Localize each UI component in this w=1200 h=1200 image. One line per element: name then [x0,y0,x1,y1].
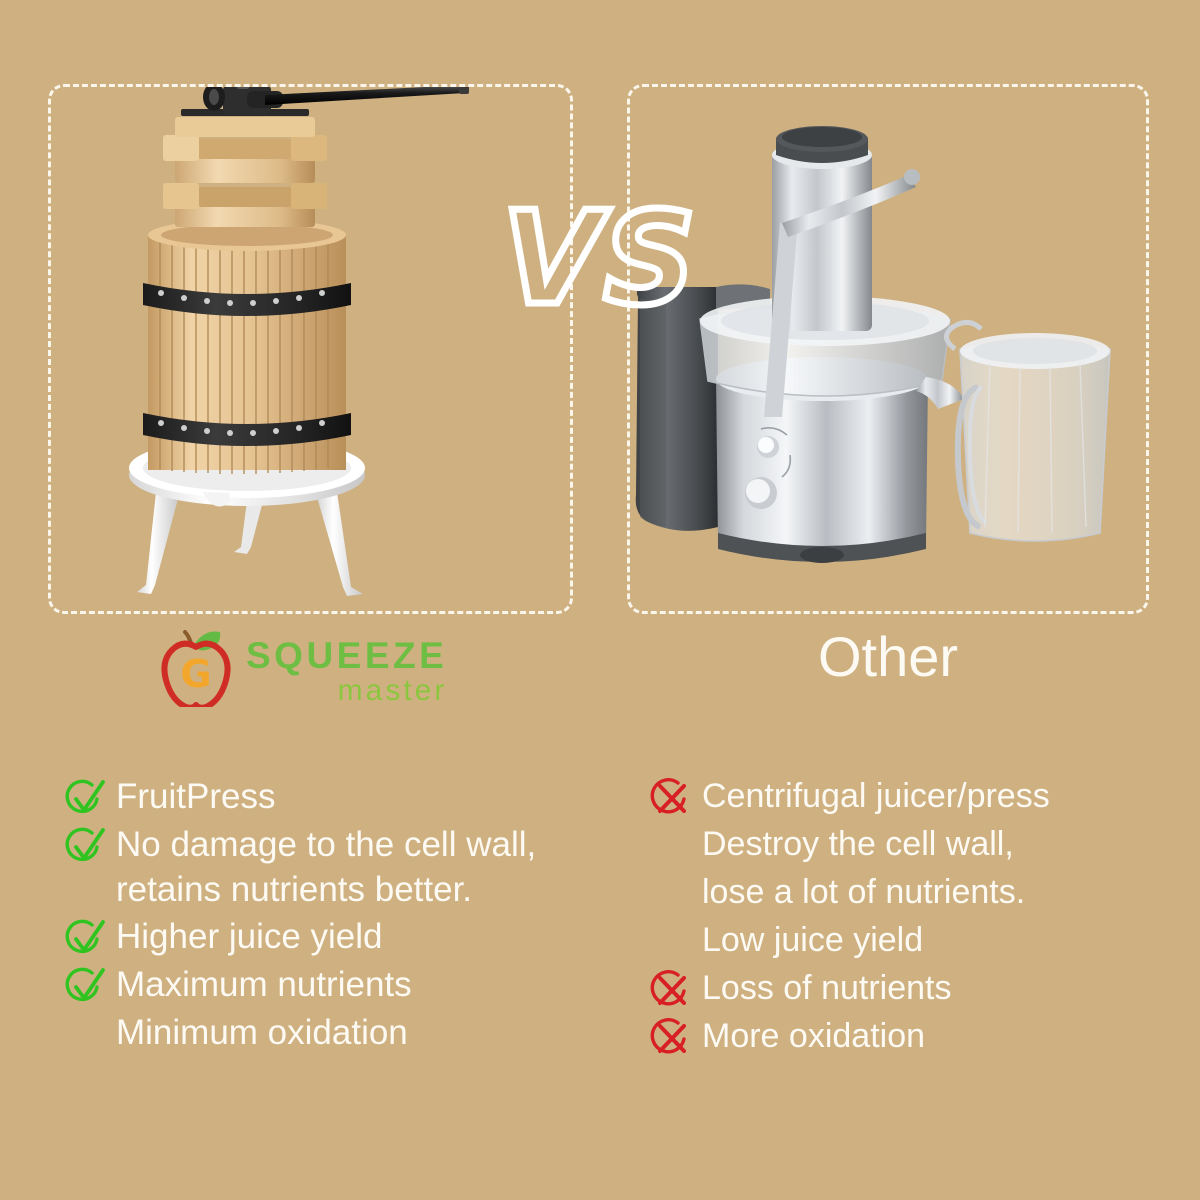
green-check-circle-icon [62,965,108,1009]
feature-row: Minimum oxidation [62,1011,622,1057]
feature-lists: FruitPress No damage to the cell wall, r… [0,775,1200,1105]
feature-text: FruitPress [116,775,275,820]
apple-logo-icon: G [160,625,232,707]
brand-wordmark: SQUEEZE master [246,625,447,709]
green-check-circle-icon [62,777,108,821]
feature-text: Maximum nutrients [116,963,412,1008]
feature-row: Maximum nutrients [62,963,622,1009]
squeeze-master-brand: G SQUEEZE master [160,625,447,709]
feature-text: Higher juice yield [116,915,383,960]
red-x-circle-icon [648,969,694,1013]
brand-name-primary: SQUEEZE [246,637,447,674]
feature-row: Low juice yield [648,919,1168,965]
feature-text: Loss of nutrients [702,967,951,1011]
feature-list-right: Centrifugal juicer/press Destroy the cel… [648,775,1168,1063]
feature-row: FruitPress [62,775,622,821]
comparison-boxes [0,84,1200,614]
green-check-circle-icon [62,917,108,961]
green-check-circle-icon [62,917,108,961]
feature-row: Higher juice yield [62,915,622,961]
green-check-circle-icon [62,777,108,821]
product-box-left [48,84,573,614]
centrifugal-juicer-icon [630,87,1152,617]
feature-text: Low juice yield [702,919,923,963]
feature-text: Centrifugal juicer/press [702,775,1050,819]
feature-row: Loss of nutrients [648,967,1168,1013]
product-box-right [627,84,1149,614]
svg-text:G: G [180,652,211,696]
red-x-circle-icon [648,777,694,821]
feature-list-left: FruitPress No damage to the cell wall, r… [62,775,622,1059]
feature-text: No damage to the cell wall, retains nutr… [116,823,536,913]
feature-text: Minimum oxidation [116,1011,408,1056]
feature-text: lose a lot of nutrients. [702,871,1025,915]
feature-text: Destroy the cell wall, [702,823,1014,867]
other-title: Other [627,625,1149,689]
feature-text: More oxidation [702,1015,925,1059]
red-x-circle-icon [648,1017,694,1061]
brand-name-secondary: master [246,674,447,709]
feature-row: Centrifugal juicer/press [648,775,1168,821]
green-check-circle-icon [62,965,108,1009]
feature-row: No damage to the cell wall, retains nutr… [62,823,622,913]
green-check-circle-icon [62,825,108,869]
feature-row: lose a lot of nutrients. [648,871,1168,917]
red-x-circle-icon [648,777,694,821]
brand-row: G SQUEEZE master Other [0,625,1200,735]
fruit-press-illustration [51,87,570,611]
feature-row: Destroy the cell wall, [648,823,1168,869]
red-x-circle-icon [648,969,694,1013]
green-check-circle-icon [62,825,108,869]
centrifugal-juicer-illustration [630,87,1146,611]
feature-row: More oxidation [648,1015,1168,1061]
wooden-fruit-press-icon [51,87,576,617]
red-x-circle-icon [648,1017,694,1061]
